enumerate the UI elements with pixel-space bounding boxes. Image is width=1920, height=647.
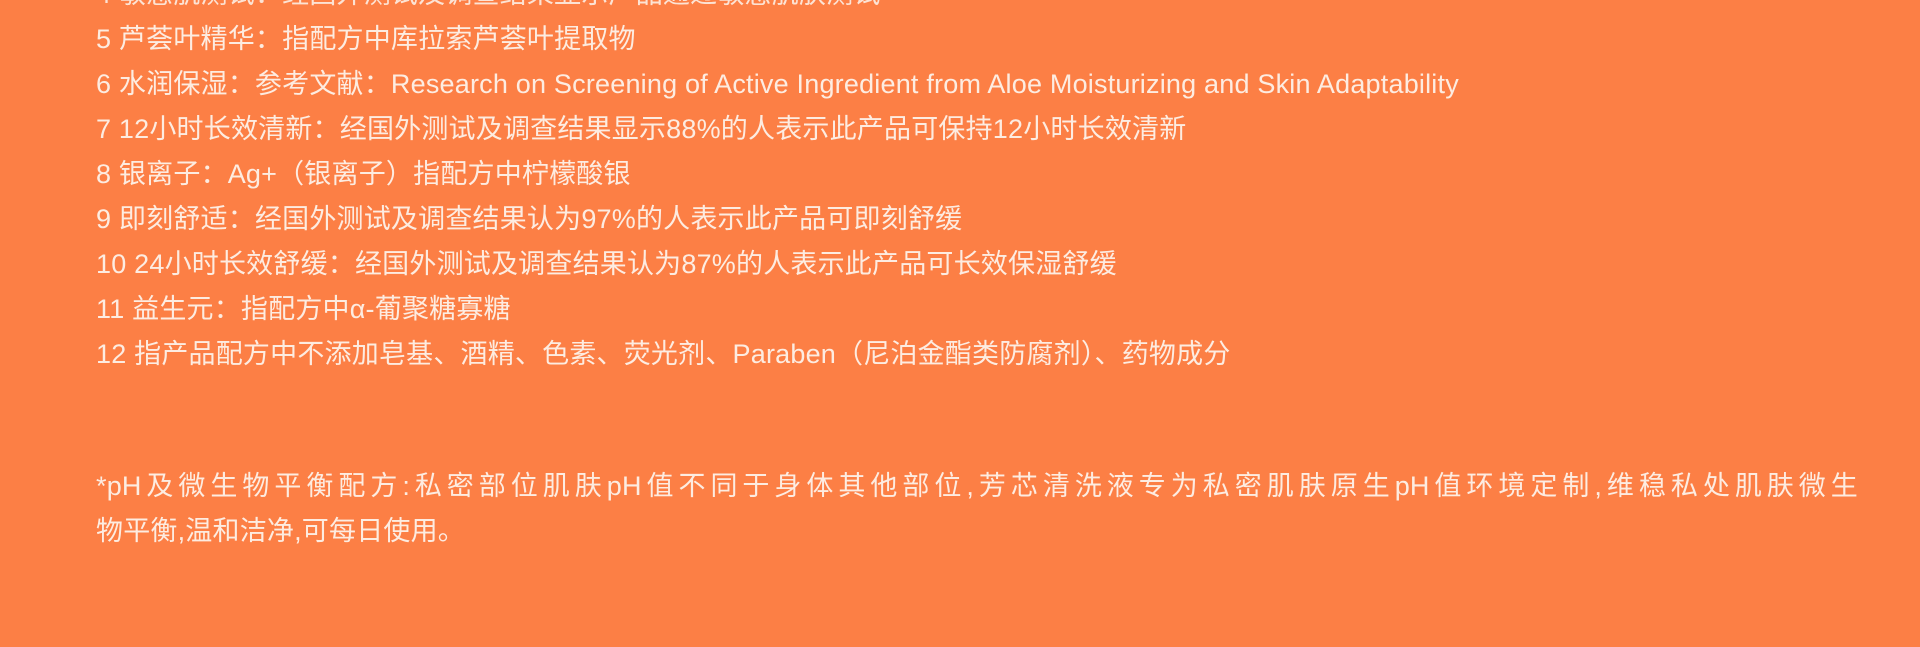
list-item: 9 即刻舒适：经国外测试及调查结果认为97%的人表示此产品可即刻舒缓 <box>96 197 1896 242</box>
list-item: 11 益生元：指配方中α-葡聚糖寡糖 <box>96 287 1896 332</box>
list-item: 10 24小时长效舒缓：经国外测试及调查结果认为87%的人表示此产品可长效保湿舒… <box>96 242 1896 287</box>
list-item: 12 指产品配方中不添加皂基、酒精、色素、荧光剂、Paraben（尼泊金酯类防腐… <box>96 332 1896 377</box>
ph-balance-note-line-1: *pH及微生物平衡配方:私密部位肌肤pH值不同于身体其他部位,芳芯清洗液专为私密… <box>96 464 1858 509</box>
list-item: 6 水润保湿：参考文献：Research on Screening of Act… <box>96 62 1896 107</box>
list-item: 5 芦荟叶精华：指配方中库拉索芦荟叶提取物 <box>96 17 1896 62</box>
list-item: 7 12小时长效清新：经国外测试及调查结果显示88%的人表示此产品可保持12小时… <box>96 107 1896 152</box>
ph-balance-note: *pH及微生物平衡配方:私密部位肌肤pH值不同于身体其他部位,芳芯清洗液专为私密… <box>96 464 1858 554</box>
list-item: 4 敏感肌测试：经国外测试及调查结果显示产品通过敏感肌肤测试 <box>96 0 1896 17</box>
list-item: 8 银离子：Ag+（银离子）指配方中柠檬酸银 <box>96 152 1896 197</box>
ph-balance-note-line-2: 物平衡,温和洁净,可每日使用。 <box>96 509 1858 554</box>
footnote-section: 4 敏感肌测试：经国外测试及调查结果显示产品通过敏感肌肤测试 5 芦荟叶精华：指… <box>0 0 1920 647</box>
footnote-list: 4 敏感肌测试：经国外测试及调查结果显示产品通过敏感肌肤测试 5 芦荟叶精华：指… <box>96 0 1896 377</box>
